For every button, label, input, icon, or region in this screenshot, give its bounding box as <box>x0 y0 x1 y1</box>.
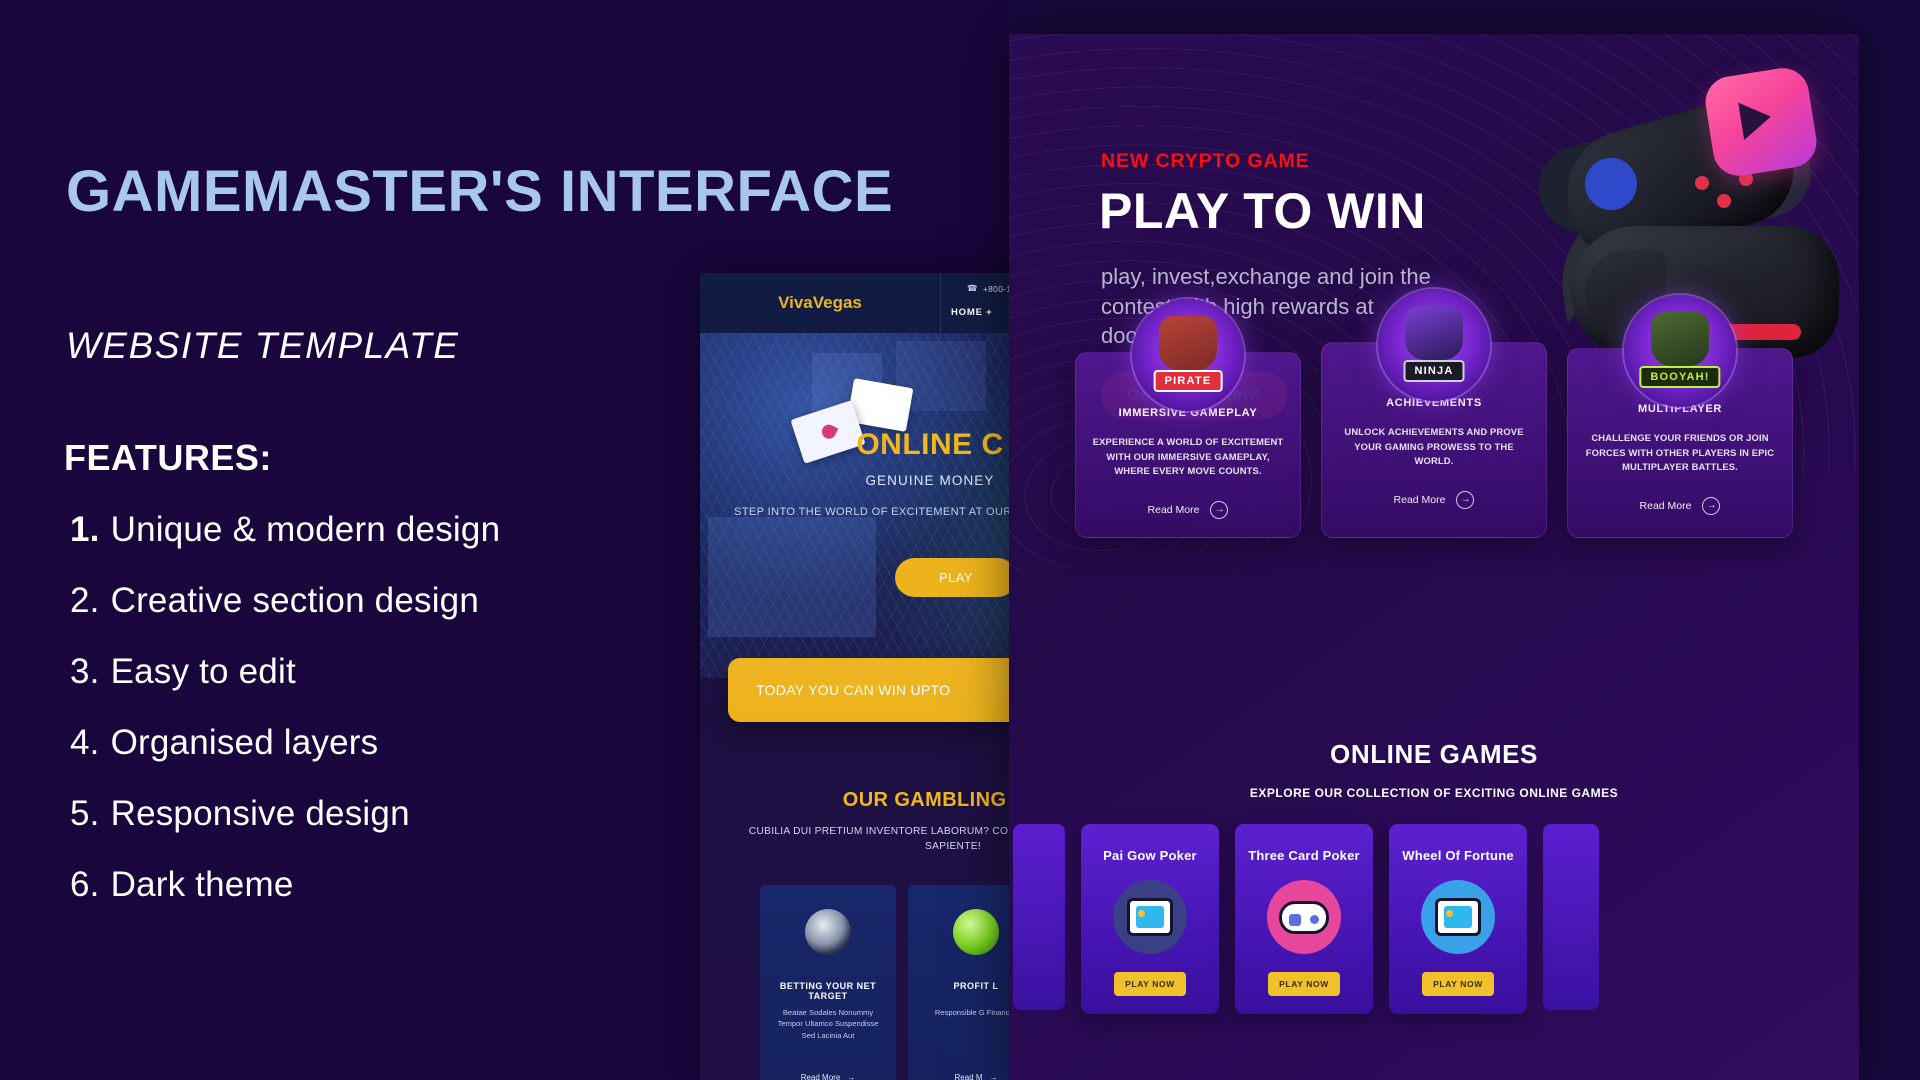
pirate-mascot-icon: PIRATE <box>1132 299 1244 411</box>
hero-eyebrow: NEW CRYPTO GAME <box>1101 150 1310 173</box>
list-item[interactable]: BETTING YOUR NET TARGET Beatae Sodales N… <box>760 885 896 1080</box>
read-more-label: Read More <box>1640 500 1692 512</box>
features-list: 1. Unique & modern design 2. Creative se… <box>70 510 770 936</box>
ninja-mascot-icon: NINJA <box>1378 289 1490 401</box>
read-more-link[interactable]: Read More→ <box>760 1073 896 1080</box>
mascot-emblem-label: BOOYAH! <box>1639 366 1720 388</box>
feature-number: 4. <box>70 723 100 763</box>
feature-text: Unique & modern design <box>111 510 501 550</box>
game-name: Wheel Of Fortune <box>1399 848 1517 863</box>
list-item: 4. Organised layers <box>70 723 770 763</box>
play-now-button[interactable]: PLAY NOW <box>1268 972 1340 996</box>
arrow-right-icon: → <box>1702 497 1720 515</box>
online-games-title: ONLINE GAMES <box>1009 739 1859 770</box>
handheld-console-icon <box>1113 880 1187 954</box>
arrow-right-icon: → <box>990 1073 998 1080</box>
feature-card[interactable]: NINJA ACHIEVEMENTS UNLOCK ACHIEVEMENTS A… <box>1321 342 1547 538</box>
phone-contact: ☎ +800-1 <box>967 283 1011 294</box>
play-button[interactable]: PLAY <box>895 558 1017 597</box>
online-games-carousel[interactable]: Pai Gow Poker PLAY NOW Three Card Poker … <box>1009 824 1859 1014</box>
roulette-wheel-icon <box>805 909 851 955</box>
feature-text: Easy to edit <box>111 652 296 692</box>
gamepad-icon <box>1267 880 1341 954</box>
read-more-label: Read More <box>801 1073 841 1080</box>
card-title: BETTING YOUR NET TARGET <box>766 981 890 1001</box>
feature-number: 2. <box>70 581 100 621</box>
phone-number: +800-1 <box>983 284 1012 294</box>
feature-card-description: CHALLENGE YOUR FRIENDS OR JOIN FORCES WI… <box>1582 431 1778 475</box>
list-item: 1. Unique & modern design <box>70 510 770 550</box>
read-more-label: Read More <box>1148 504 1200 516</box>
feature-number: 6. <box>70 865 100 905</box>
controller-button-icon <box>1695 176 1709 190</box>
menu-item-home[interactable]: HOME + <box>951 307 993 318</box>
list-item: 6. Dark theme <box>70 865 770 905</box>
carousel-peek-card-right[interactable] <box>1543 824 1599 1010</box>
game-card[interactable]: Pai Gow Poker PLAY NOW <box>1081 824 1219 1014</box>
feature-card-description: UNLOCK ACHIEVEMENTS AND PROVE YOUR GAMIN… <box>1336 425 1532 469</box>
page-subtitle: WEBSITE TEMPLATE <box>66 325 459 367</box>
read-more-link[interactable]: Read More → <box>1582 497 1778 515</box>
read-more-link[interactable]: Read More → <box>1336 491 1532 509</box>
green-chip-icon <box>953 909 999 955</box>
list-item: 3. Easy to edit <box>70 652 770 692</box>
feature-card-description: EXPERIENCE A WORLD OF EXCITEMENT WITH OU… <box>1090 435 1286 479</box>
hero-heading: PLAY TO WIN <box>1099 182 1426 240</box>
feature-text: Organised layers <box>111 723 379 763</box>
phone-icon: ☎ <box>967 283 978 294</box>
arrow-right-icon: → <box>847 1073 855 1080</box>
feature-card-row: PIRATE IMMERSIVE GAMEPLAY EXPERIENCE A W… <box>1075 334 1795 538</box>
carousel-peek-card-left[interactable] <box>1013 824 1065 1010</box>
controller-button-icon <box>1717 194 1731 208</box>
hero-shape <box>708 517 876 637</box>
game-name: Three Card Poker <box>1245 848 1363 863</box>
feature-number: 3. <box>70 652 100 692</box>
play-now-button[interactable]: PLAY NOW <box>1422 972 1494 996</box>
page-title: GAMEMASTER'S INTERFACE <box>66 158 893 225</box>
game-card[interactable]: Wheel Of Fortune PLAY NOW <box>1389 824 1527 1014</box>
feature-number: 1. <box>70 510 100 550</box>
mascot-emblem-label: NINJA <box>1403 360 1464 382</box>
list-item: 2. Creative section design <box>70 581 770 621</box>
list-item: 5. Responsive design <box>70 794 770 834</box>
read-more-label: Read More <box>1394 494 1446 506</box>
plus-cross-icon <box>1796 179 1854 237</box>
feature-text: Responsive design <box>111 794 410 834</box>
features-heading: FEATURES: <box>64 437 272 479</box>
game-name: Pai Gow Poker <box>1091 848 1209 863</box>
read-more-label: Read M <box>954 1073 982 1080</box>
feature-number: 5. <box>70 794 100 834</box>
online-games-subtitle: EXPLORE OUR COLLECTION OF EXCITING ONLIN… <box>1009 786 1859 800</box>
mockup-brand: VivaVegas <box>700 293 940 313</box>
mascot-emblem-label: PIRATE <box>1154 370 1223 392</box>
arrow-right-icon: → <box>1210 501 1228 519</box>
play-now-button[interactable]: PLAY NOW <box>1114 972 1186 996</box>
play-triangle-icon <box>1738 98 1774 140</box>
card-description: Beatae Sodales Nonummy Tempor Ultamco Su… <box>770 1007 886 1041</box>
feature-text: Dark theme <box>111 865 294 905</box>
poster-canvas: GAMEMASTER'S INTERFACE WEBSITE TEMPLATE … <box>0 0 1920 1080</box>
feature-card[interactable]: PIRATE IMMERSIVE GAMEPLAY EXPERIENCE A W… <box>1075 352 1301 538</box>
read-more-link[interactable]: Read More → <box>1090 501 1286 519</box>
handheld-console-icon <box>1421 880 1495 954</box>
arrow-right-icon: → <box>1456 491 1474 509</box>
gaming-website-mockup: NEW CRYPTO GAME PLAY TO WIN play, invest… <box>1009 34 1859 1080</box>
feature-card[interactable]: BOOYAH! MULTIPLAYER CHALLENGE YOUR FRIEN… <box>1567 348 1793 538</box>
booyah-mascot-icon: BOOYAH! <box>1624 295 1736 407</box>
game-card[interactable]: Three Card Poker PLAY NOW <box>1235 824 1373 1014</box>
feature-text: Creative section design <box>111 581 479 621</box>
